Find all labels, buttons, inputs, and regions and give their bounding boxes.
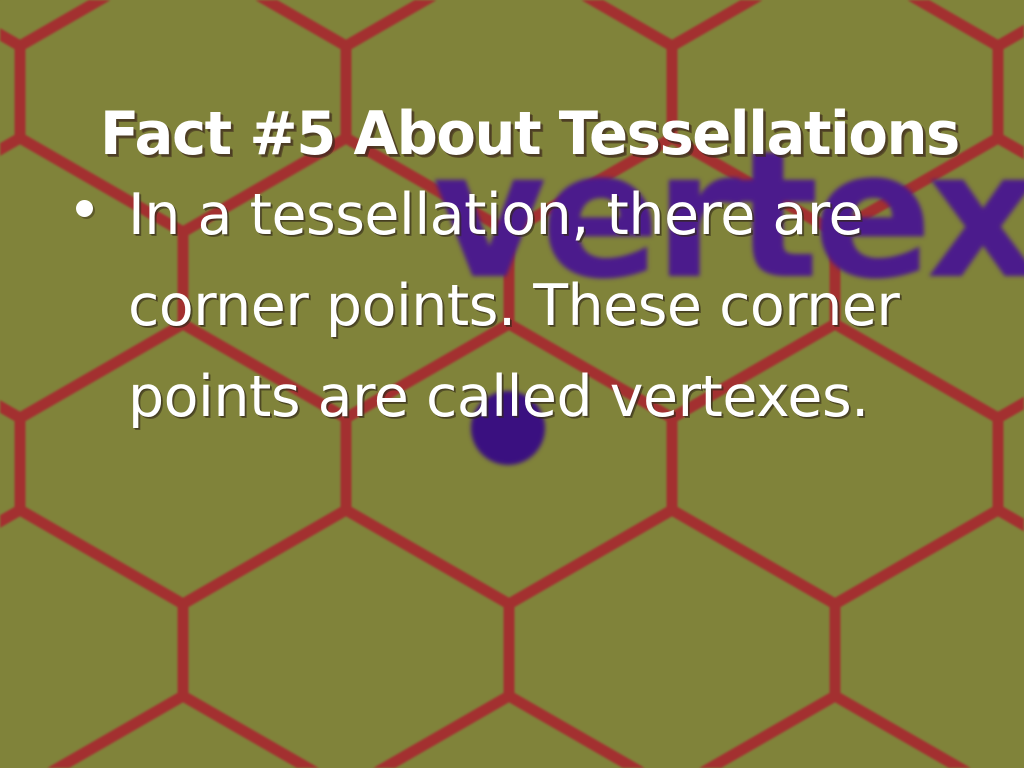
slide-title: Fact #5 About Tessellations: [100, 102, 959, 166]
bullet-list: In a tessellation, there are corner poin…: [62, 170, 962, 443]
bullet-item-text: In a tessellation, there are corner poin…: [128, 170, 962, 443]
bullet-point-icon: [76, 200, 93, 217]
slide-content: Fact #5 About Tessellations In a tessell…: [0, 0, 1024, 768]
bullet-list-item: In a tessellation, there are corner poin…: [62, 170, 962, 443]
presentation-slide: vertex Fact #5 About Tessellations In a …: [0, 0, 1024, 768]
